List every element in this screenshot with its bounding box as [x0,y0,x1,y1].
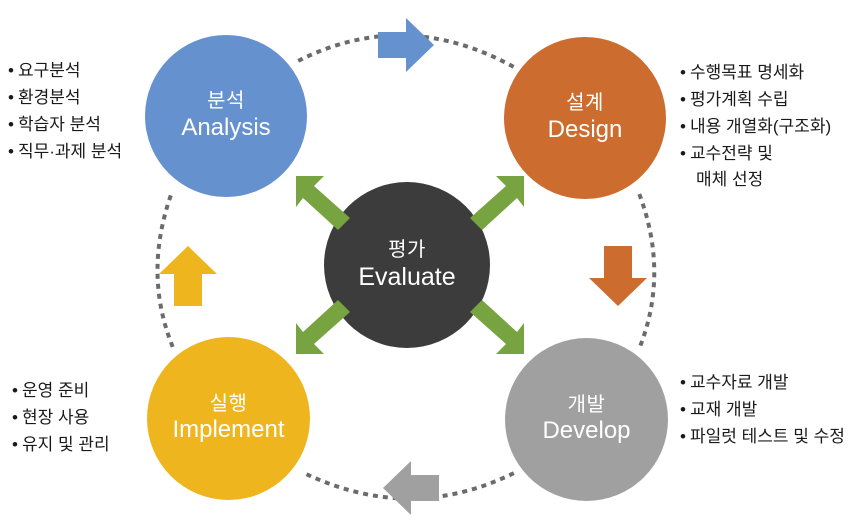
bullet-item: •현장 사용 [12,405,110,432]
bullet-marker: • [680,90,686,109]
bullet-text: 현장 사용 [22,408,89,427]
bullet-text: 직무·과제 분석 [18,142,122,161]
bullet-item: •요구분석 [8,58,122,85]
node-design-label-ko: 설계 [566,92,604,114]
bullet-marker: • [8,115,14,134]
bullet-marker: • [8,61,14,80]
bullet-text: 요구분석 [18,61,81,80]
node-evaluate-label-en: Evaluate [358,263,455,291]
node-implement-label-en: Implement [172,417,284,444]
bullets-design: •수행목표 명세화 •평가계획 수립 •내용 개열화(구조화) •교수전략 및 … [680,60,831,194]
bullets-implement: •운영 준비 •현장 사용 •유지 및 관리 [12,378,110,459]
bullet-item: •내용 개열화(구조화) [680,114,831,141]
node-implement[interactable]: 실행 Implement [147,337,310,500]
left-arrow-icon [381,457,441,519]
bullet-text: 운영 준비 [22,381,89,400]
diagonal-arrow-down-left-icon [292,298,354,360]
node-analysis[interactable]: 분석 Analysis [145,35,307,197]
bullet-item: •유지 및 관리 [12,432,110,459]
node-design-label-en: Design [548,117,623,144]
bullet-marker: • [12,381,18,400]
bullets-develop: •교수자료 개발 •교재 개발 •파일럿 테스트 및 수정 [680,370,845,451]
bullet-marker: • [12,408,18,427]
bullet-text: 교재 개발 [690,400,757,419]
down-arrow-icon [586,244,650,308]
bullet-marker: • [680,400,686,419]
bullet-text: 내용 개열화(구조화) [690,117,831,136]
bullet-marker: • [12,435,18,454]
bullet-marker: • [8,88,14,107]
addie-diagram: 분석 Analysis 설계 Design 실행 Implement 개발 De… [0,0,857,520]
bullet-text: 평가계획 수립 [690,90,789,109]
node-develop[interactable]: 개발 Develop [505,338,668,501]
right-arrow-icon [376,14,436,76]
bullet-marker: • [680,144,686,163]
bullet-item: •교수자료 개발 [680,370,845,397]
bullet-text: 교수전략 및 [690,144,773,163]
node-develop-label-en: Develop [542,418,630,445]
node-evaluate-label-ko: 평가 [388,239,426,261]
bullet-text: 파일럿 테스트 및 수정 [690,427,845,446]
node-analysis-label-en: Analysis [181,115,270,142]
bullet-item: •교수전략 및 [680,141,831,168]
bullet-marker: • [680,427,686,446]
node-design[interactable]: 설계 Design [504,37,666,199]
bullet-marker: • [680,373,686,392]
up-arrow-icon [157,244,219,308]
bullet-item: •직무·과제 분석 [8,139,122,166]
diagonal-arrow-up-right-icon [466,170,528,232]
bullet-item: •수행목표 명세화 [680,60,831,87]
bullet-item: •환경분석 [8,85,122,112]
bullet-text: 수행목표 명세화 [690,63,804,82]
bullet-text: 환경분석 [18,88,81,107]
node-implement-label-ko: 실행 [210,393,248,415]
bullet-item: •파일럿 테스트 및 수정 [680,424,845,451]
bullet-marker: • [8,142,14,161]
bullets-analysis: •요구분석 •환경분석 •학습자 분석 •직무·과제 분석 [8,58,122,165]
bullet-item: •교재 개발 [680,397,845,424]
bullet-text: 교수자료 개발 [690,373,789,392]
bullet-item: •학습자 분석 [8,112,122,139]
bullet-marker: • [680,117,686,136]
bullet-text-continuation: 매체 선정 [680,167,831,194]
diagonal-arrow-down-right-icon [466,298,528,360]
bullet-text: 유지 및 관리 [22,435,110,454]
bullet-text: 학습자 분석 [18,115,101,134]
node-develop-label-ko: 개발 [568,394,606,416]
diagonal-arrow-up-left-icon [292,170,354,232]
bullet-item: •운영 준비 [12,378,110,405]
node-analysis-label-ko: 분석 [207,90,245,112]
bullet-item: •평가계획 수립 [680,87,831,114]
bullet-marker: • [680,63,686,82]
